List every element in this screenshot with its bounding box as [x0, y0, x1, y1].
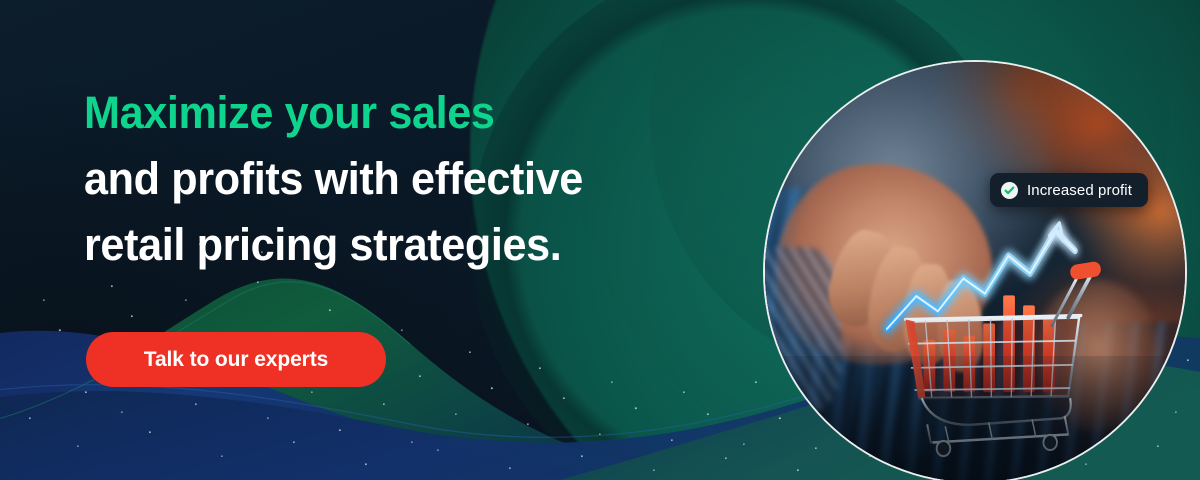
status-badge-label: Increased profit: [1027, 182, 1132, 199]
hero-photo: [763, 60, 1187, 480]
promo-banner: Maximize your sales and profits with eff…: [0, 0, 1200, 480]
talk-to-experts-button[interactable]: Talk to our experts: [86, 332, 386, 387]
page-title: Maximize your sales and profits with eff…: [84, 80, 583, 278]
photo-glass-overlay: [765, 356, 1185, 480]
headline-line-1: Maximize your sales: [84, 80, 583, 146]
headline-line-2: and profits with effective: [84, 146, 583, 212]
status-badge: Increased profit: [990, 173, 1148, 207]
check-circle-icon: [1001, 182, 1018, 199]
headline-line-3: retail pricing strategies.: [84, 212, 583, 278]
